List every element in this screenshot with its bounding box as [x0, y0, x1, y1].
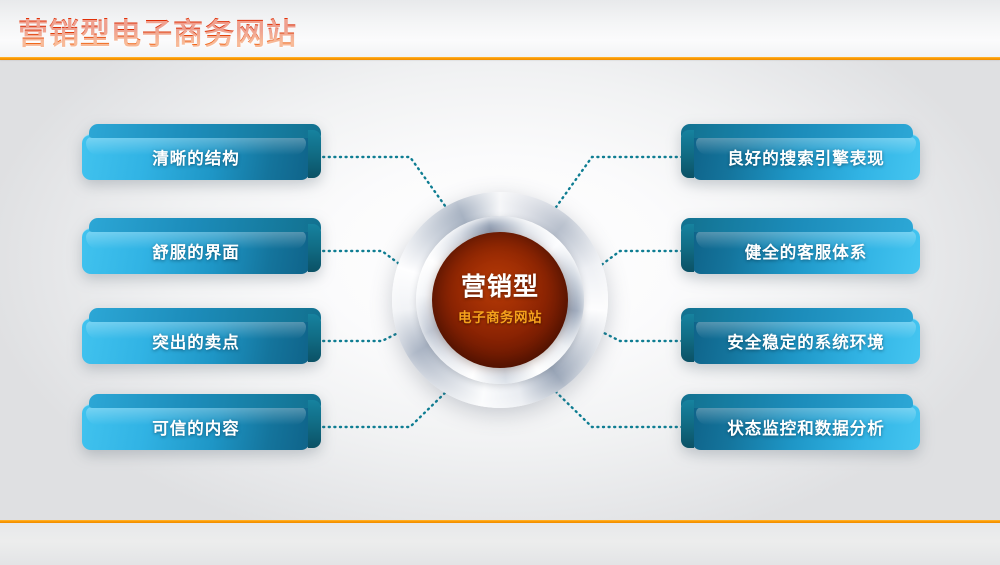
- pill-side-bevel: [308, 400, 321, 448]
- feature-pill-label: 清晰的结构: [152, 145, 240, 169]
- feature-pill-label: 突出的卖点: [152, 329, 240, 353]
- feature-pill-label: 安全稳定的系统环境: [727, 329, 885, 353]
- pill-top-bevel: [681, 394, 913, 408]
- feature-pill-label: 状态监控和数据分析: [727, 415, 885, 439]
- hub-core: 营销型 电子商务网站: [432, 232, 568, 368]
- pill-side-bevel: [681, 130, 694, 178]
- pill-top-bevel: [89, 124, 321, 138]
- feature-pill-right-2[interactable]: 健全的客服体系: [692, 228, 920, 274]
- feature-pill-left-4[interactable]: 可信的内容: [82, 404, 310, 450]
- pill-side-bevel: [308, 130, 321, 178]
- pill-top-bevel: [89, 394, 321, 408]
- hub-title-sub: 电子商务网站: [458, 306, 542, 326]
- feature-pill-label: 可信的内容: [152, 415, 240, 439]
- pill-side-bevel: [308, 314, 321, 362]
- feature-pill-right-3[interactable]: 安全稳定的系统环境: [692, 318, 920, 364]
- pill-top-bevel: [681, 308, 913, 322]
- footer-band: [0, 523, 1000, 565]
- pill-top-bevel: [89, 218, 321, 232]
- pill-top-bevel: [89, 308, 321, 322]
- feature-pill-label: 舒服的界面: [152, 239, 240, 263]
- hub-title-main: 营销型: [461, 274, 539, 300]
- feature-pill-left-2[interactable]: 舒服的界面: [82, 228, 310, 274]
- feature-pill-left-1[interactable]: 清晰的结构: [82, 134, 310, 180]
- pill-top-bevel: [681, 124, 913, 138]
- feature-pill-label: 良好的搜索引擎表现: [727, 145, 885, 169]
- feature-pill-right-1[interactable]: 良好的搜索引擎表现: [692, 134, 920, 180]
- pill-side-bevel: [681, 400, 694, 448]
- pill-side-bevel: [681, 314, 694, 362]
- pill-side-bevel: [308, 224, 321, 272]
- feature-pill-label: 健全的客服体系: [745, 239, 868, 263]
- pill-top-bevel: [681, 218, 913, 232]
- pill-side-bevel: [681, 224, 694, 272]
- feature-pill-right-4[interactable]: 状态监控和数据分析: [692, 404, 920, 450]
- feature-pill-left-3[interactable]: 突出的卖点: [82, 318, 310, 364]
- center-hub[interactable]: 营销型 电子商务网站: [392, 192, 608, 408]
